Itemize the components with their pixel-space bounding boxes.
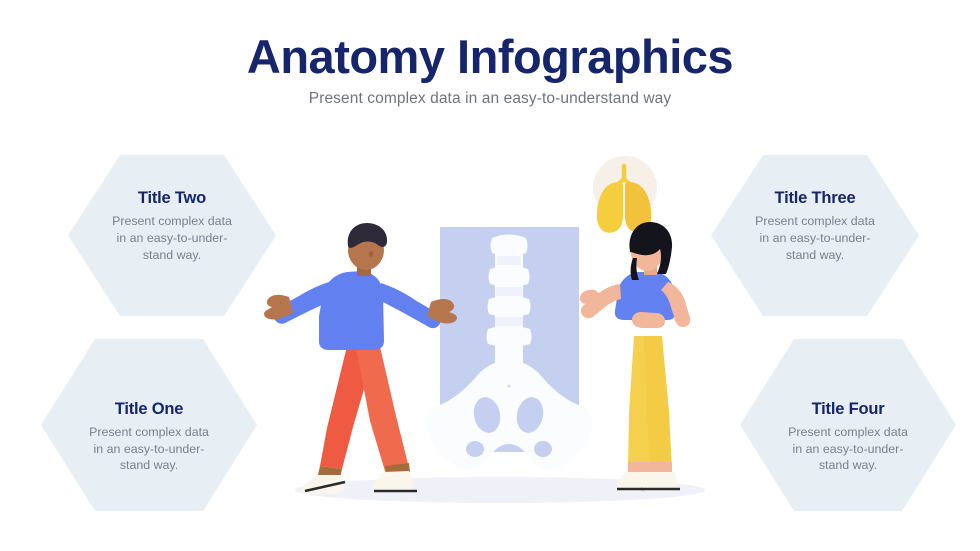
- pelvis-foramen-right: [534, 441, 552, 457]
- right-figure: [580, 222, 690, 491]
- card-title-one-body: Present complex data in an easy-to-under…: [82, 424, 216, 474]
- lungs-badge: [593, 156, 657, 233]
- card-title-two-heading: Title Two: [108, 189, 237, 208]
- lungs-circle-bg: [593, 156, 657, 220]
- left-figure-hair: [348, 223, 387, 248]
- right-figure-hair-strand: [631, 258, 639, 280]
- pelvis-aperture-left: [471, 395, 504, 436]
- left-figure-front-leg: [356, 338, 409, 471]
- page-subtitle: Present complex data in an easy-to-under…: [0, 90, 980, 108]
- card-title-one-heading: Title One: [82, 400, 216, 419]
- right-figure-head: [631, 233, 663, 271]
- right-figure-shoe-right: [641, 472, 680, 491]
- right-figure-neck: [644, 258, 657, 275]
- header: Anatomy Infographics Present complex dat…: [0, 32, 980, 108]
- card-title-two-body: Present complex data in an easy-to-under…: [108, 213, 237, 263]
- left-figure-left-arm: [273, 282, 333, 324]
- left-figure: [264, 223, 457, 494]
- card-title-four-heading: Title Four: [781, 400, 915, 419]
- left-figure-shoe-back: [301, 475, 345, 494]
- right-figure-shoe-left: [617, 472, 655, 491]
- right-figure-right-leg: [644, 336, 672, 470]
- left-figure-shoe-front: [373, 471, 417, 492]
- right-figure-raised-arm: [581, 284, 621, 318]
- xray-panel: [426, 227, 593, 470]
- card-title-four-body: Present complex data in an easy-to-under…: [781, 424, 915, 474]
- card-title-two[interactable]: Title Two Present complex data in an eas…: [68, 155, 276, 316]
- page-title: Anatomy Infographics: [0, 32, 980, 81]
- right-figure-left-leg: [628, 336, 661, 470]
- left-figure-hand-left: [264, 295, 293, 320]
- card-title-four[interactable]: Title Four Present complex data in an ea…: [740, 339, 956, 511]
- left-figure-back-leg: [320, 338, 371, 469]
- lungs-icon: [597, 166, 652, 233]
- card-title-one[interactable]: Title One Present complex data in an eas…: [41, 339, 257, 511]
- right-figure-hand-lowered: [632, 312, 665, 328]
- pelvis-aperture-right: [514, 395, 547, 436]
- left-figure-sweater: [319, 271, 384, 350]
- right-figure-tshirt: [615, 272, 676, 320]
- right-figure-hand-raised: [580, 290, 608, 313]
- pelvis-foramen-left: [466, 441, 484, 457]
- left-figure-neck: [357, 258, 371, 276]
- ground-shadow: [295, 477, 705, 503]
- card-title-three-heading: Title Three: [751, 189, 880, 208]
- spine-bones: [487, 235, 532, 374]
- left-figure-hand-right: [427, 299, 457, 324]
- pelvis-bone: [426, 360, 593, 470]
- left-figure-right-arm: [379, 283, 441, 328]
- card-title-three-body: Present complex data in an easy-to-under…: [751, 213, 880, 263]
- right-figure-lowered-arm: [661, 282, 690, 327]
- infographic-slide: Anatomy Infographics Present complex dat…: [0, 0, 980, 551]
- left-figure-head: [348, 230, 384, 270]
- card-title-three[interactable]: Title Three Present complex data in an e…: [711, 155, 919, 316]
- right-figure-hair: [629, 222, 672, 274]
